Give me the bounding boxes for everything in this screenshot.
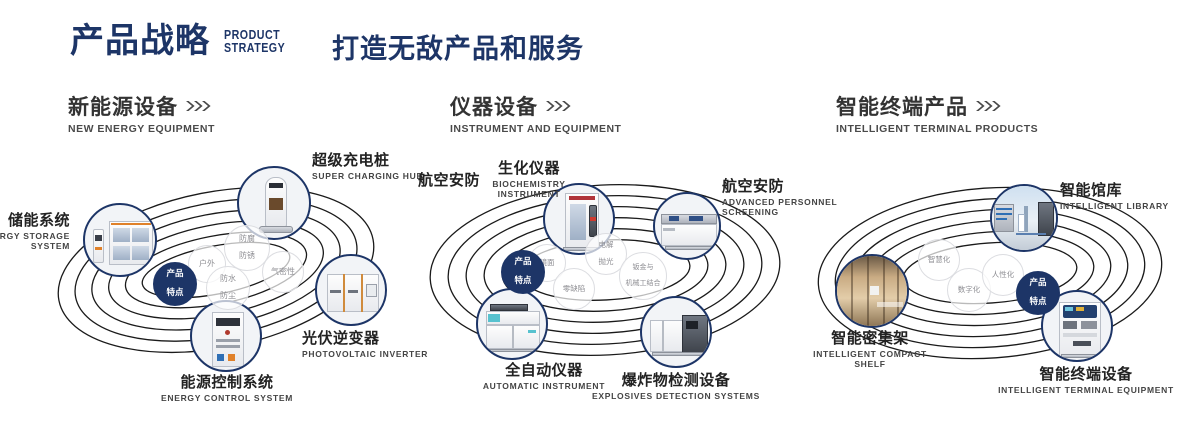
chevron-right-icon	[186, 100, 212, 114]
label-en: INTELLIGENT COMPACTSHELF	[760, 349, 980, 370]
label-intelligent-library: 智能馆库 INTELLIGENT LIBRARY	[1060, 182, 1200, 211]
energy-control-icon	[192, 302, 260, 370]
screening-machine-icon	[655, 194, 719, 258]
intelligent-library-icon	[992, 186, 1056, 250]
cluster-intelligent-terminal: 智能馆库 INTELLIGENT LIBRARY 智能密集架 INTELLIGE…	[790, 150, 1200, 400]
section-title-cn: 仪器设备	[450, 96, 538, 118]
compact-shelf-icon	[837, 256, 907, 326]
section-header-instrument: 仪器设备 INSTRUMENT AND EQUIPMENT	[450, 96, 621, 135]
node-energy-control[interactable]	[190, 300, 262, 372]
section-title-cn: 智能终端产品	[836, 96, 968, 118]
node-automatic-instrument[interactable]	[476, 288, 548, 360]
node-energy-storage[interactable]	[83, 203, 157, 277]
label-en: INTELLIGENT LIBRARY	[1060, 201, 1200, 212]
label-en: INTELLIGENT TERMINAL EQUIPMENT	[972, 385, 1200, 396]
label-biochemistry-instrument: 生化仪器 BIOCHEMISTRYINSTRUMENT	[464, 160, 594, 200]
node-advanced-personnel-screening[interactable]	[653, 192, 721, 260]
feature-bubble-zero-defect: 零缺陷	[553, 268, 595, 310]
chevron-right-icon	[546, 100, 572, 114]
label-energy-storage: 储能系统 ENERGY STORAGESYSTEM	[0, 212, 70, 252]
title-cn: 产品战略	[70, 24, 210, 58]
label-intelligent-compact-shelf: 智能密集架 INTELLIGENT COMPACTSHELF	[760, 330, 980, 370]
node-explosives-detection[interactable]	[640, 296, 712, 368]
node-intelligent-library[interactable]	[990, 184, 1058, 252]
section-title-en: INSTRUMENT AND EQUIPMENT	[450, 123, 621, 135]
section-title-en: NEW ENERGY EQUIPMENT	[68, 123, 215, 135]
page-subtitle: 打造无敌产品和服务	[332, 36, 584, 63]
section-title-en: INTELLIGENT TERMINAL PRODUCTS	[836, 123, 1038, 135]
label-en: EXPLOSIVES DETECTION SYSTEMS	[568, 391, 784, 402]
feature-bubble-sheetmetal: 钣金与机械工结合	[619, 252, 667, 300]
feature-bubble-airtight: 气密性	[262, 251, 304, 293]
title-en: PRODUCT STRATEGY	[224, 28, 285, 58]
node-pv-inverter[interactable]	[315, 254, 387, 326]
feature-bubble-core: 产品特点	[153, 262, 197, 306]
label-en: ENERGY CONTROL SYSTEM	[110, 393, 344, 404]
page-title: 产品战略 PRODUCT STRATEGY	[70, 24, 299, 58]
feature-bubble-core: 产品特点	[1016, 271, 1060, 315]
title-en-line2: STRATEGY	[224, 41, 285, 54]
node-intelligent-compact-shelf[interactable]	[835, 254, 909, 328]
energy-storage-icon	[85, 205, 155, 275]
product-strategy-infographic: 产品战略 PRODUCT STRATEGY 打造无敌产品和服务 新能源设备 NE…	[0, 0, 1200, 422]
label-en: ENERGY STORAGESYSTEM	[0, 231, 70, 252]
feature-bubble-waterproof: 防水防尘	[206, 266, 250, 310]
feature-bubble-core: 产品特点	[501, 250, 545, 294]
pv-inverter-icon	[317, 256, 385, 324]
cluster-new-energy: 储能系统 ENERGY STORAGESYSTEM 超级充电桩 SUPER CH…	[0, 150, 420, 400]
label-en: BIOCHEMISTRYINSTRUMENT	[464, 179, 594, 200]
section-title-cn: 新能源设备	[68, 96, 178, 118]
explosives-detection-icon	[642, 298, 710, 366]
automatic-instrument-icon	[478, 290, 546, 358]
section-header-intelligent-terminal: 智能终端产品 INTELLIGENT TERMINAL PRODUCTS	[836, 96, 1038, 135]
section-header-new-energy: 新能源设备 NEW ENERGY EQUIPMENT	[68, 96, 215, 135]
cluster-instrument: 航空安防 生化仪器 BIOCHEMISTRYINSTRUMENT	[400, 150, 820, 400]
label-energy-control: 能源控制系统 ENERGY CONTROL SYSTEM	[110, 374, 344, 403]
label-explosives-detection: 爆炸物检测设备 EXPLOSIVES DETECTION SYSTEMS	[568, 372, 784, 401]
chevron-right-icon	[976, 100, 1002, 114]
label-intelligent-terminal-equipment: 智能终端设备 INTELLIGENT TERMINAL EQUIPMENT	[972, 366, 1200, 395]
